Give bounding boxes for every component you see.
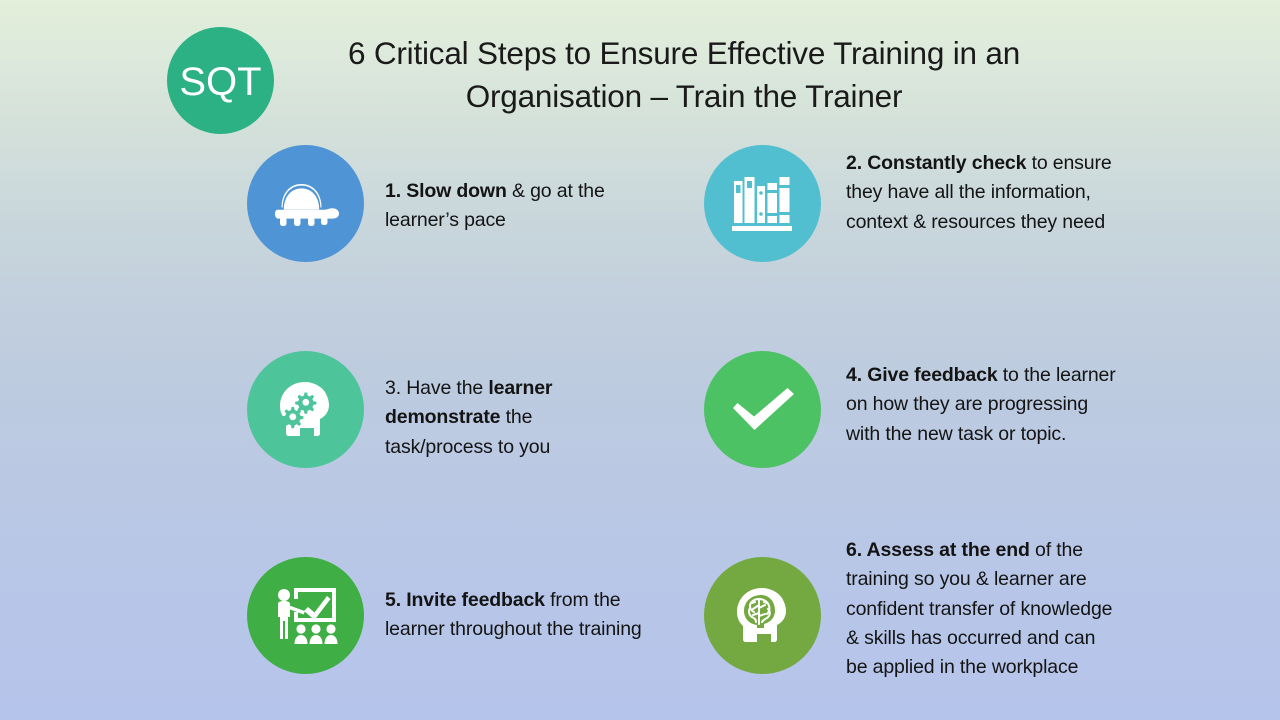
step-4-bold: 4. Give feedback	[846, 364, 998, 386]
step-2-text: 2. Constantly check to ensure they have …	[846, 149, 1118, 237]
step-6-bold: 6. Assess at the end	[846, 539, 1030, 561]
presenter-board-icon	[272, 585, 340, 647]
step-1-text: 1. Slow down & go at the learner’s pace	[385, 177, 655, 236]
step-3-prefix: 3. Have the	[385, 377, 488, 399]
step-3-icon-circle	[247, 351, 364, 468]
step-item-5: 5. Invite feedback from the learner thro…	[247, 557, 665, 674]
head-brain-icon	[731, 584, 795, 648]
step-item-3: 3. Have the learner demonstrate the task…	[247, 351, 590, 468]
step-3-text: 3. Have the learner demonstrate the task…	[385, 374, 590, 462]
step-5-text: 5. Invite feedback from the learner thro…	[385, 586, 665, 645]
step-6-icon-circle	[704, 557, 821, 674]
turtle-icon	[271, 181, 341, 227]
step-4-icon-circle	[704, 351, 821, 468]
sqt-logo-text: SQT	[179, 62, 261, 102]
checkmark-icon	[727, 383, 799, 437]
step-item-2: 2. Constantly check to ensure they have …	[704, 145, 1118, 262]
page-title: 6 Critical Steps to Ensure Effective Tra…	[284, 32, 1084, 118]
step-1-icon-circle	[247, 145, 364, 262]
sqt-logo: SQT	[167, 27, 274, 134]
step-4-text: 4. Give feedback to the learner on how t…	[846, 361, 1116, 449]
step-item-1: 1. Slow down & go at the learner’s pace	[247, 145, 655, 262]
step-6-text: 6. Assess at the end of the training so …	[846, 536, 1118, 682]
slide-header: SQT 6 Critical Steps to Ensure Effective…	[0, 0, 1280, 140]
step-1-bold: 1. Slow down	[385, 180, 507, 202]
step-item-6: 6. Assess at the end of the training so …	[704, 557, 1118, 682]
head-gears-icon	[274, 378, 338, 442]
books-shelf-icon	[732, 174, 794, 234]
step-5-bold: 5. Invite feedback	[385, 589, 545, 611]
step-2-bold: 2. Constantly check	[846, 152, 1026, 174]
steps-grid: 1. Slow down & go at the learner’s pace	[0, 140, 1280, 720]
step-5-icon-circle	[247, 557, 364, 674]
step-2-icon-circle	[704, 145, 821, 262]
step-item-4: 4. Give feedback to the learner on how t…	[704, 351, 1116, 468]
